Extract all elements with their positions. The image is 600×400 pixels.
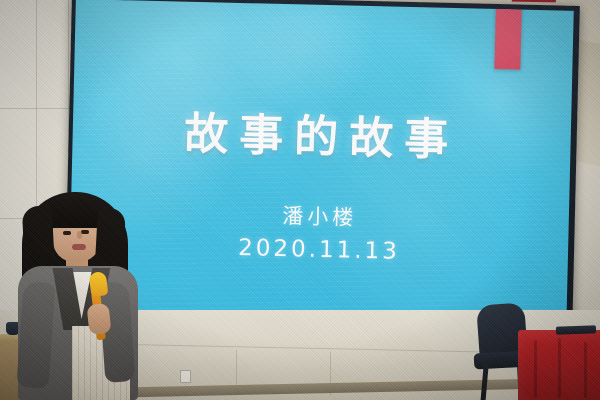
table-cloth-fold-3 — [584, 342, 587, 398]
mouth — [72, 244, 86, 250]
wall-outlet-icon — [180, 370, 191, 383]
eye-right — [81, 230, 89, 234]
hand — [86, 303, 111, 335]
nose — [77, 231, 82, 239]
red-banner-icon — [494, 7, 521, 70]
eye-left — [63, 231, 71, 235]
wall-seam-horizontal — [0, 108, 72, 109]
chair-leg-left — [480, 364, 488, 400]
photo-scene: 故事的故事 潘小楼 2020.11.13 — [0, 0, 600, 400]
slide-title: 故事的故事 — [72, 95, 571, 171]
table-cloth-fold-2 — [558, 338, 561, 398]
presenter — [6, 186, 156, 400]
table-object — [556, 325, 596, 334]
table-cloth-fold-1 — [534, 340, 537, 398]
side-table — [518, 330, 600, 400]
